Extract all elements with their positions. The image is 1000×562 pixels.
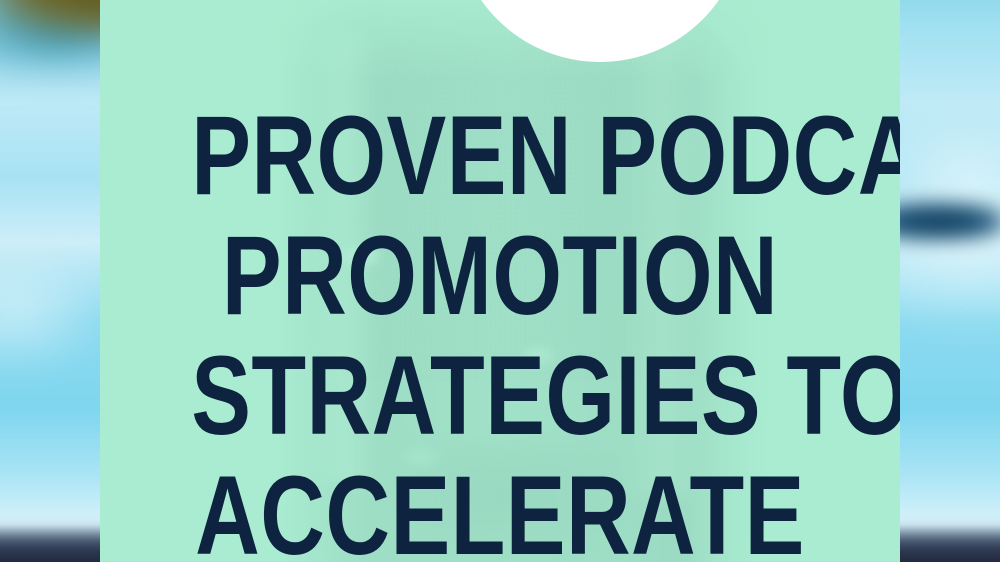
- title-line-4: ACCELERATE: [191, 456, 809, 562]
- center-panel: PROVEN PODCAST PROMOTION STRATEGIES TO A…: [100, 0, 900, 562]
- title-line-3: STRATEGIES TO: [191, 336, 809, 456]
- page-title: PROVEN PODCAST PROMOTION STRATEGIES TO A…: [100, 96, 900, 562]
- title-line-2: PROMOTION: [191, 216, 809, 336]
- title-line-1: PROVEN PODCAST: [191, 96, 809, 216]
- background-left-glow: [0, 255, 111, 371]
- pin-graphic: PROVEN PODCAST PROMOTION STRATEGIES TO A…: [0, 0, 1000, 562]
